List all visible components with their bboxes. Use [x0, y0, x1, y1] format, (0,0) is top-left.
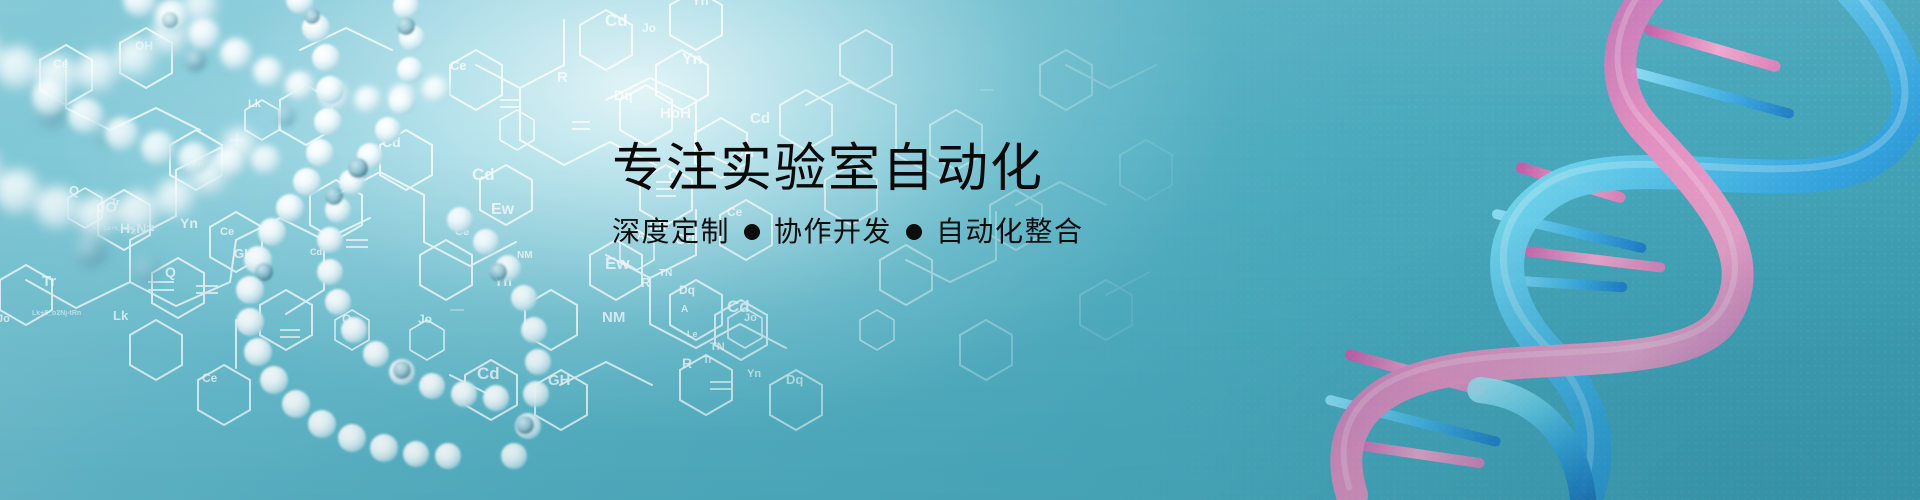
chemical-label: Ce: [455, 226, 469, 238]
chemical-label: Jo: [418, 312, 432, 326]
chemical-label: HoH: [660, 105, 691, 122]
banner-subtitle: 深度定制 协作开发 自动化整合: [612, 214, 1172, 250]
banner-headline: 专注实验室自动化: [612, 140, 1172, 198]
chemical-label: Tr: [703, 355, 713, 366]
chemical-label: TN: [659, 268, 672, 279]
chemical-label: Q: [69, 183, 79, 198]
chemical-label: Cd: [382, 134, 401, 150]
chemical-label: OH: [135, 39, 153, 53]
chemical-label: Yn: [494, 273, 512, 289]
chemical-label: GH: [548, 372, 571, 389]
chemical-label: Jo: [0, 313, 10, 325]
bullet-dot-icon: [906, 224, 922, 240]
chemical-label: Le: [687, 329, 698, 339]
chemical-label: Cd: [605, 11, 628, 30]
chemical-label: Ce: [53, 57, 69, 71]
chemical-label: GH: [234, 246, 254, 261]
chemical-label: Jo: [642, 21, 656, 35]
chemical-label: Tr: [42, 273, 56, 290]
chemical-label: Ew: [491, 201, 515, 218]
chemical-label: Cd: [472, 165, 495, 184]
chemical-label: Ce: [220, 226, 234, 238]
chemical-label: Ce: [202, 371, 218, 385]
chemical-label: Yn: [747, 368, 761, 380]
chemical-label: Yn: [180, 215, 198, 231]
bullet-dot-icon: [744, 224, 760, 240]
dna-double-helix-graphic: [1310, 0, 1920, 500]
chemical-label: Yn: [692, 0, 709, 8]
subtitle-part-2: 协作开发: [774, 214, 892, 250]
chemical-label: NM: [602, 309, 625, 326]
chemical-label: Cd: [477, 364, 500, 383]
chemical-label: Dq: [614, 87, 633, 103]
chemical-label: Q: [165, 264, 176, 280]
chemical-label: Cd: [727, 297, 750, 316]
chemical-label: Cd: [750, 110, 770, 127]
chemical-label: NM: [517, 250, 533, 261]
chemical-label: R: [641, 275, 651, 290]
chemical-label: Lk: [248, 98, 262, 110]
chemical-label: O: [342, 312, 351, 326]
chemical-label: Yn: [190, 159, 204, 171]
subtitle-part-1: 深度定制: [612, 214, 730, 250]
chemical-label: Ce: [450, 58, 467, 73]
chemical-label: R: [682, 355, 692, 371]
chemical-label: Ew: [605, 254, 630, 273]
chemical-label: Tr: [111, 197, 120, 207]
chemical-label: Dq: [786, 372, 803, 387]
chemical-label: Lk+5_o2Nj-tRn: [32, 310, 81, 317]
chemical-label: A: [681, 304, 688, 315]
chemical-label: Yn: [682, 51, 702, 68]
chemical-label: TN: [710, 341, 725, 353]
chemical-label: H₂N=: [120, 220, 155, 236]
chemical-label: R: [557, 69, 568, 86]
chemical-label: Dq: [679, 283, 695, 297]
chemical-label: Lk: [113, 308, 129, 323]
chemical-label: Jo: [744, 312, 757, 324]
chemical-label: JO: [97, 199, 117, 216]
subtitle-part-3: 自动化整合: [936, 214, 1084, 250]
chemical-label: Lk+5_o2Nj: [104, 226, 135, 232]
chemical-label: Cd: [310, 247, 322, 257]
hero-banner: TrLk+5_o2Nj-tRnLkJOTrLk+5_o2NjH₂N=QGHCeY…: [0, 0, 1920, 500]
banner-text-block: 专注实验室自动化 深度定制 协作开发 自动化整合: [612, 140, 1172, 251]
